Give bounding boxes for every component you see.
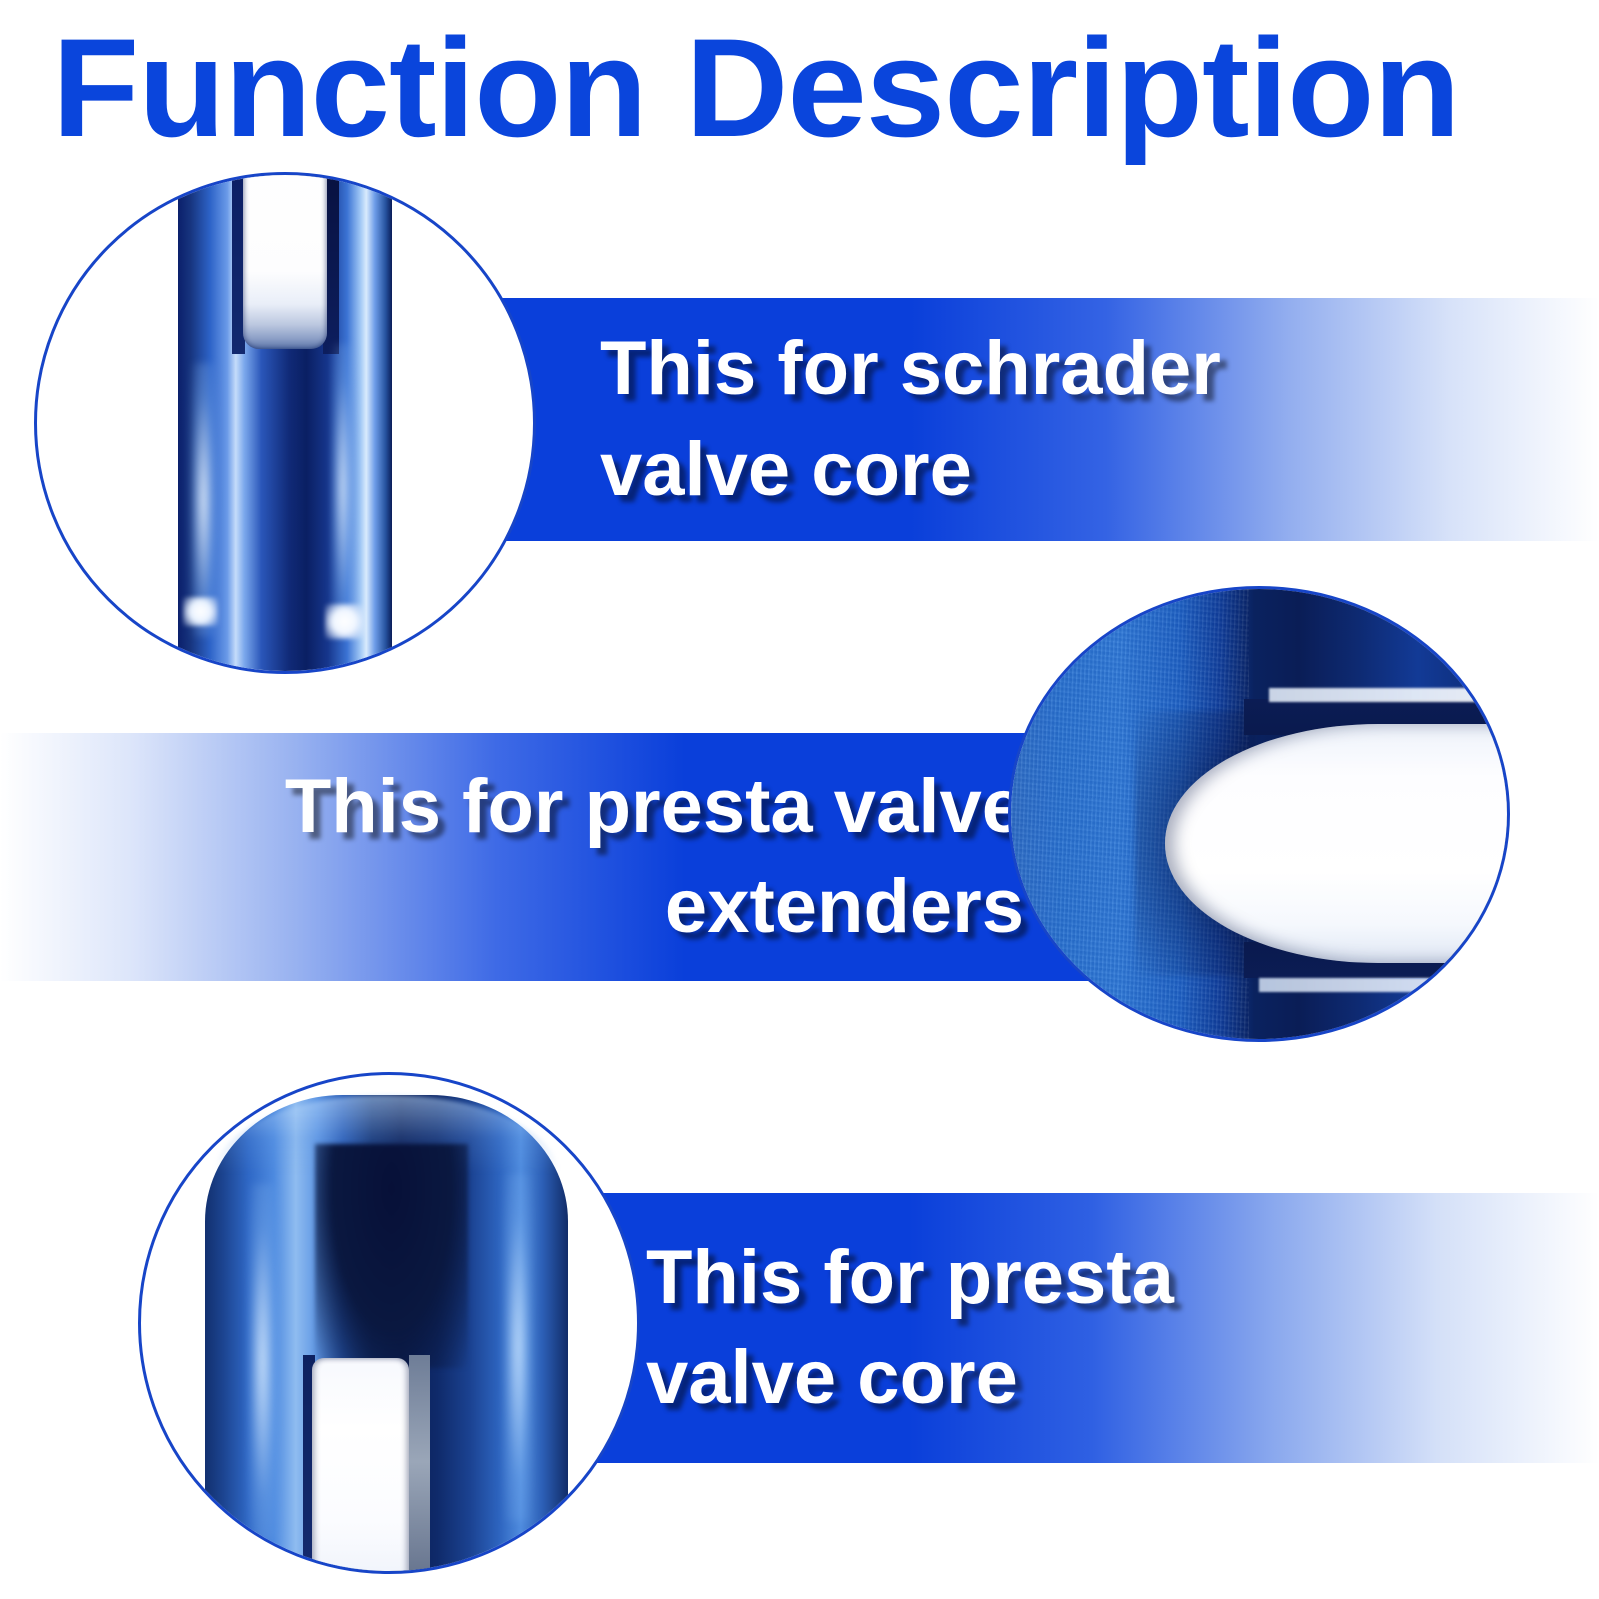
specular-dot-left [183, 597, 218, 627]
label-band-schrader-valve-core: This for schrader valve core [452, 298, 1599, 541]
band-text-line-2: extenders [285, 857, 1024, 957]
specular-highlight-left [248, 1184, 278, 1541]
band-text-line-2: valve core [600, 420, 1221, 520]
specular-dot-right [325, 604, 365, 639]
inverted-u-slot [312, 1358, 409, 1574]
photo-content [1011, 589, 1507, 1039]
label-band-presta-valve-core: This for presta valve core [520, 1193, 1599, 1463]
photo-content [141, 1075, 637, 1571]
socket-lip-bottom-gloss [1259, 978, 1510, 992]
band-text-line-1: This for presta valve [285, 757, 1024, 857]
band-text-line-1: This for schrader [600, 319, 1221, 419]
specular-highlight-right [332, 344, 354, 632]
band-text-line-2: valve core [646, 1328, 1174, 1428]
presta-valve-core-socket-photo [138, 1072, 640, 1574]
presta-valve-extender-socket-photo [1008, 586, 1510, 1042]
label-band-presta-valve-extenders: This for presta valve extenders [0, 733, 1104, 981]
u-shaped-slot [243, 172, 327, 349]
band-text-presta-valve-extenders: This for presta valve extenders [285, 757, 1024, 958]
specular-highlight-right [503, 1174, 533, 1521]
band-text-line-1: This for presta [646, 1228, 1174, 1328]
page-title: Function Description [52, 18, 1599, 158]
band-text-schrader-valve-core: This for schrader valve core [600, 319, 1221, 520]
photo-content [37, 175, 533, 671]
center-shadow [315, 1144, 469, 1367]
band-text-presta-valve-core: This for presta valve core [646, 1228, 1174, 1429]
socket-lip-top-gloss [1269, 688, 1510, 702]
schrader-valve-core-socket-photo [34, 172, 536, 674]
slot-edge-right [409, 1355, 430, 1574]
specular-highlight-left [191, 363, 216, 636]
infographic-canvas: Function Description This for schrader v… [0, 0, 1599, 1599]
